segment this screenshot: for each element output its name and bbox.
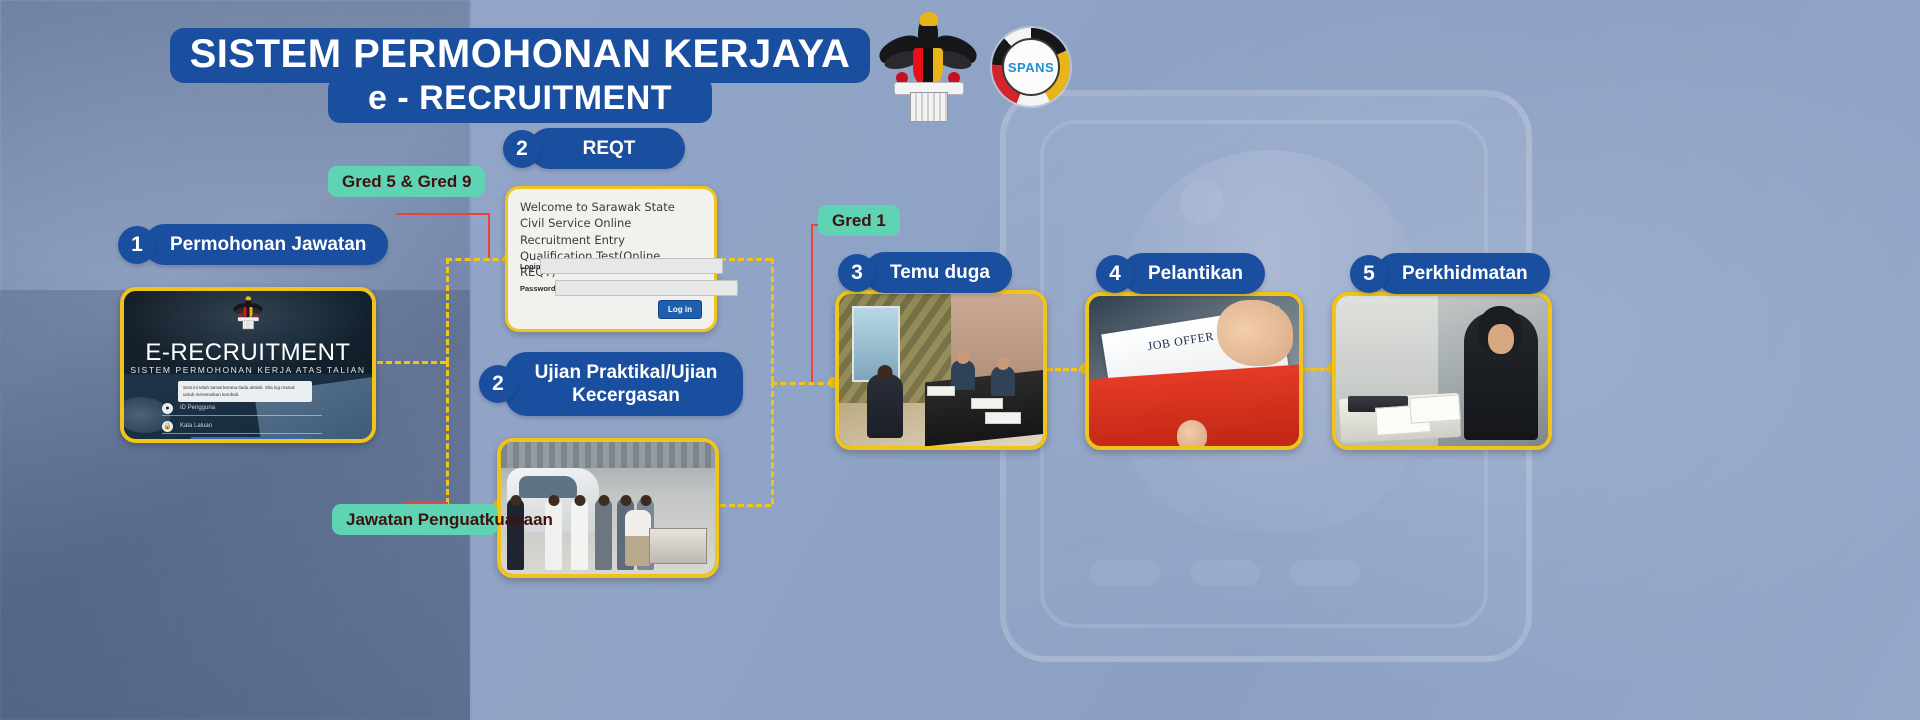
service-officer-face (1488, 324, 1514, 354)
step-4-label: Pelantikan (1122, 253, 1265, 294)
title-line-1: SISTEM PERMOHONAN KERJAYA (170, 28, 871, 83)
tag-gred-1: Gred 1 (818, 205, 900, 236)
erecruitment-session-notice: Sesi ini telah tamat kerana tiada aktivi… (178, 381, 312, 402)
erecruitment-title: E-RECRUITMENT (124, 339, 372, 367)
step-1-label: Permohonan Jawatan (144, 224, 388, 265)
background-chip (1290, 560, 1360, 586)
reqt-login-card[interactable]: Welcome to Sarawak State Civil Service O… (505, 186, 717, 332)
practical-table (649, 528, 707, 564)
step-1-permohonan-jawatan[interactable]: 1 Permohonan Jawatan (118, 224, 388, 265)
spans-logo-icon: SPANS (992, 28, 1070, 106)
user-icon: ● (162, 403, 173, 414)
step-1-number: 1 (118, 226, 156, 264)
erecruitment-user-id-field[interactable]: ● ID Pengguna (162, 401, 322, 416)
step-3-temu-duga[interactable]: 3 Temu duga (838, 252, 1012, 293)
step-3-number: 3 (838, 254, 876, 292)
practical-test-photo[interactable] (497, 438, 719, 578)
tag-jawatan-penguatkuasaan: Jawatan Penguatkuasaan (332, 504, 498, 535)
interview-candidate (867, 374, 903, 438)
step-2-reqt-number: 2 (503, 130, 541, 168)
logo-group: SPANS (880, 8, 1070, 126)
connector-dash (446, 258, 508, 261)
practical-roof (501, 442, 715, 468)
erecruitment-screenshot-card[interactable]: E-RECRUITMENT SISTEM PERMOHONAN KERJA AT… (120, 287, 376, 443)
interview-document (985, 412, 1021, 424)
spans-label: SPANS (1008, 60, 1054, 75)
step-2-ujian-number: 2 (479, 365, 517, 403)
connector-dash (368, 361, 446, 364)
practical-inspector (625, 510, 651, 566)
step-2-reqt-label: REQT (529, 128, 685, 169)
lock-icon: 🔒 (162, 421, 173, 432)
step-4-number: 4 (1096, 255, 1134, 293)
erecruitment-password-label: Kata Laluan (180, 423, 212, 429)
practical-person (545, 498, 562, 570)
connector-dash (711, 504, 771, 507)
reqt-login-input[interactable] (540, 258, 723, 274)
interview-document (971, 398, 1003, 409)
erecruitment-password-field[interactable]: 🔒 Kata Laluan (162, 419, 322, 434)
tag-gred-5-9: Gred 5 & Gred 9 (328, 166, 485, 197)
reqt-password-label: Password (520, 284, 555, 293)
reqt-password-row: Password (520, 281, 702, 295)
step-5-number: 5 (1350, 255, 1388, 293)
background-chip (1190, 560, 1260, 586)
step-2-reqt[interactable]: 2 REQT (503, 128, 685, 169)
sarawak-crest-icon (880, 8, 976, 126)
step-2-ujian-praktikal[interactable]: 2 Ujian Praktikal/Ujian Kecergasan (479, 352, 743, 416)
reqt-login-button[interactable]: Log in (658, 300, 702, 319)
interview-document (927, 386, 955, 396)
leader-line-red (811, 224, 813, 382)
step-5-label: Perkhidmatan (1376, 253, 1550, 294)
offer-thumb (1177, 420, 1207, 450)
connector-dash (771, 382, 833, 385)
erecruitment-user-id-label: ID Pengguna (180, 405, 215, 411)
offer-letter-photo[interactable]: JOB OFFER LETTER (1085, 292, 1303, 450)
connector-dash (446, 361, 449, 504)
service-photo[interactable] (1332, 292, 1552, 450)
step-4-pelantikan[interactable]: 4 Pelantikan (1096, 253, 1265, 294)
service-officer (1464, 312, 1538, 440)
connector-dash (771, 258, 774, 382)
erecruitment-login-button[interactable]: Log Masuk (190, 437, 304, 443)
leader-line-red (396, 213, 488, 215)
leader-line-red (488, 213, 490, 258)
step-2-ujian-label: Ujian Praktikal/Ujian Kecergasan (505, 352, 743, 416)
connector-dash (771, 382, 774, 504)
step-5-perkhidmatan[interactable]: 5 Perkhidmatan (1350, 253, 1550, 294)
interview-display-screen (852, 306, 900, 382)
erecruitment-crest-icon (234, 295, 263, 330)
reqt-login-row: Login (520, 259, 702, 273)
step-3-label: Temu duga (864, 252, 1012, 293)
background-chip (1090, 560, 1160, 586)
reqt-login-label: Login (520, 262, 540, 271)
offer-hand (1217, 300, 1293, 366)
page-title: SISTEM PERMOHONAN KERJAYA e - RECRUITMEN… (160, 28, 880, 123)
practical-person (571, 498, 588, 570)
interview-photo[interactable] (835, 290, 1047, 450)
service-document (1409, 394, 1461, 423)
erecruitment-subtitle: SISTEM PERMOHONAN KERJA ATAS TALIAN (124, 365, 372, 375)
practical-person (595, 498, 612, 570)
interview-panelist (991, 366, 1015, 396)
connector-dash (446, 258, 449, 363)
background-chip (1180, 180, 1224, 224)
practical-person (507, 498, 524, 570)
title-line-2: e - RECRUITMENT (328, 77, 712, 124)
reqt-password-input[interactable] (555, 280, 738, 296)
